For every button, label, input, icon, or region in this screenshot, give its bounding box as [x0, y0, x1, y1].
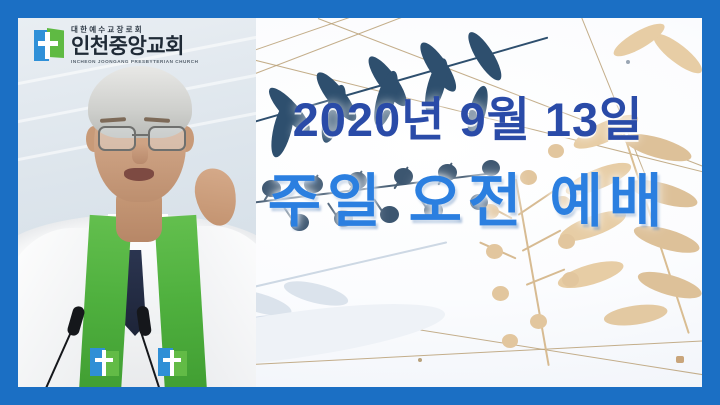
church-name-english: INCHEON JOONGANG PRESBYTERIAN CHURCH	[71, 60, 199, 65]
service-title-block: 2020년 9월 13일 주일 오전 예배	[234, 96, 702, 231]
tan-berry	[492, 286, 509, 301]
service-date: 2020년 9월 13일	[234, 96, 702, 143]
tan-leaf	[635, 266, 702, 303]
service-name: 주일 오전 예배	[234, 173, 702, 231]
church-logo-mark-icon	[34, 28, 64, 62]
cross-icon	[45, 32, 50, 59]
cross-icon-bar	[95, 358, 113, 362]
stole-emblem-right	[158, 348, 188, 378]
hairline-7	[348, 318, 702, 378]
navy-leaf	[463, 28, 507, 84]
tan-berry	[562, 272, 579, 287]
accent-dot-3	[418, 358, 422, 362]
tan-berry	[530, 314, 547, 329]
pale-leaf	[278, 306, 342, 335]
accent-dot-2	[626, 60, 630, 64]
tan-berry-stem	[479, 242, 516, 260]
glasses-lens-left	[98, 126, 136, 151]
tan-leaf	[610, 18, 669, 62]
tan-leaf	[603, 301, 669, 329]
pastor-photo	[18, 18, 256, 387]
cross-icon-bar	[163, 358, 181, 362]
tan-leaf	[648, 28, 702, 79]
denomination-label: 대한예수교장로회	[71, 26, 199, 34]
content-stage: 대한예수교장로회 인천중앙교회 INCHEON JOONGANG PRESBYT…	[18, 18, 702, 387]
church-logo-text: 대한예수교장로회 인천중앙교회 INCHEON JOONGANG PRESBYT…	[71, 26, 199, 64]
tan-berry-stem	[526, 268, 566, 285]
pale-leaf	[282, 276, 351, 310]
tan-leaf	[555, 256, 626, 294]
cross-icon-bar	[38, 41, 58, 46]
church-name: 인천중앙교회	[71, 36, 199, 57]
pastor-nose	[132, 144, 148, 164]
pastor-mouth	[124, 168, 154, 181]
cross-icon	[102, 350, 106, 376]
tan-berry	[558, 234, 575, 249]
glasses-lens-right	[148, 126, 186, 151]
pastor-photo-image	[18, 18, 256, 387]
glasses-bridge	[132, 134, 148, 136]
tan-berry	[502, 334, 518, 348]
cross-icon	[170, 350, 174, 376]
tan-berry	[486, 244, 503, 259]
stole-emblem-left	[90, 348, 120, 378]
navy-leaf	[415, 38, 462, 96]
church-logo: 대한예수교장로회 인천중앙교회 INCHEON JOONGANG PRESBYT…	[34, 26, 199, 64]
title-card-frame: 대한예수교장로회 인천중앙교회 INCHEON JOONGANG PRESBYT…	[0, 0, 720, 405]
accent-dot-4	[676, 356, 684, 363]
